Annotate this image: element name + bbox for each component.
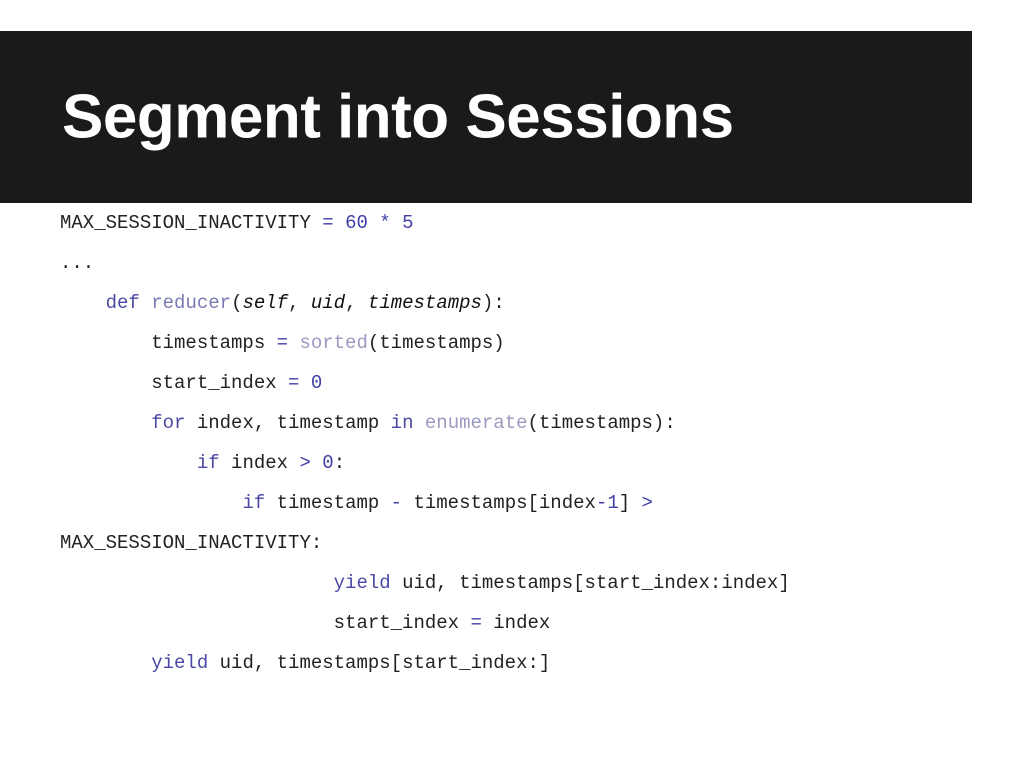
code-token-plain: (	[231, 292, 242, 314]
code-token-plain: (timestamps)	[368, 332, 505, 354]
code-line: MAX_SESSION_INACTIVITY = 60 * 5	[0, 203, 1024, 243]
code-token-operator: *	[379, 212, 390, 234]
code-line: ...	[0, 243, 1024, 283]
code-token-plain	[140, 292, 151, 314]
code-token-keyword: yield	[151, 652, 208, 674]
title-bar: Segment into Sessions	[0, 31, 972, 203]
code-token-plain: MAX_SESSION_INACTIVITY	[60, 212, 322, 234]
code-token-parameter: self	[242, 292, 288, 314]
code-token-plain: MAX_SESSION_INACTIVITY:	[60, 532, 322, 554]
code-line: for index, timestamp in enumerate(timest…	[0, 403, 1024, 443]
code-token-plain	[334, 212, 345, 234]
code-token-keyword: if	[242, 492, 265, 514]
code-line: MAX_SESSION_INACTIVITY:	[0, 523, 1024, 563]
code-token-parameter: uid	[311, 292, 345, 314]
code-token-plain: start_index	[60, 372, 288, 394]
code-block: MAX_SESSION_INACTIVITY = 60 * 5... def r…	[0, 203, 1024, 683]
slide: Segment into Sessions MAX_SESSION_INACTI…	[0, 0, 1024, 768]
code-token-plain: ]	[619, 492, 642, 514]
code-line: start_index = index	[0, 603, 1024, 643]
code-token-builtin: sorted	[299, 332, 367, 354]
code-token-plain	[288, 332, 299, 354]
code-token-plain: index, timestamp	[185, 412, 390, 434]
code-token-operator: =	[470, 612, 481, 634]
code-token-plain	[368, 212, 379, 234]
code-token-operator: =	[288, 372, 299, 394]
code-token-keyword: yield	[334, 572, 391, 594]
code-token-plain	[413, 412, 424, 434]
code-token-plain	[60, 412, 151, 434]
code-token-plain: ,	[288, 292, 311, 314]
code-token-operator: =	[322, 212, 333, 234]
code-token-number: 1	[607, 492, 618, 514]
code-token-plain: start_index	[60, 612, 470, 634]
code-token-keyword: def	[106, 292, 140, 314]
code-token-operator: -	[596, 492, 607, 514]
page-title: Segment into Sessions	[62, 84, 734, 149]
code-token-keyword: if	[197, 452, 220, 474]
code-token-plain	[60, 652, 151, 674]
code-token-parameter: timestamps	[368, 292, 482, 314]
code-token-builtin: enumerate	[425, 412, 528, 434]
code-token-plain	[391, 212, 402, 234]
code-token-plain	[60, 492, 242, 514]
code-token-plain	[60, 452, 197, 474]
code-token-keyword: in	[391, 412, 414, 434]
code-token-plain: uid, timestamps[start_index:index]	[391, 572, 790, 594]
code-token-number: 60	[345, 212, 368, 234]
code-token-operator: >	[299, 452, 310, 474]
code-token-plain	[60, 572, 334, 594]
code-token-number: 5	[402, 212, 413, 234]
code-token-plain: index	[482, 612, 550, 634]
code-line: timestamps = sorted(timestamps)	[0, 323, 1024, 363]
code-token-function_name: reducer	[151, 292, 231, 314]
code-token-plain: ,	[345, 292, 368, 314]
code-token-plain: timestamp	[265, 492, 390, 514]
code-token-plain	[60, 292, 106, 314]
code-token-number: 0	[311, 372, 322, 394]
code-line: if index > 0:	[0, 443, 1024, 483]
code-token-number: 0	[322, 452, 333, 474]
code-token-operator: =	[277, 332, 288, 354]
code-token-plain: ):	[482, 292, 505, 314]
code-token-plain: uid, timestamps[start_index:]	[208, 652, 550, 674]
code-line: yield uid, timestamps[start_index:]	[0, 643, 1024, 683]
code-token-plain: timestamps[index	[402, 492, 596, 514]
code-token-plain	[299, 372, 310, 394]
code-token-plain: timestamps	[60, 332, 277, 354]
code-token-plain: (timestamps):	[528, 412, 676, 434]
code-token-plain	[311, 452, 322, 474]
code-token-plain: index	[220, 452, 300, 474]
code-token-keyword: for	[151, 412, 185, 434]
code-line: if timestamp - timestamps[index-1] >	[0, 483, 1024, 523]
code-token-plain: :	[334, 452, 345, 474]
code-line: start_index = 0	[0, 363, 1024, 403]
code-token-plain: ...	[60, 252, 94, 274]
code-token-operator: -	[391, 492, 402, 514]
code-line: def reducer(self, uid, timestamps):	[0, 283, 1024, 323]
code-token-operator: >	[642, 492, 653, 514]
code-line: yield uid, timestamps[start_index:index]	[0, 563, 1024, 603]
